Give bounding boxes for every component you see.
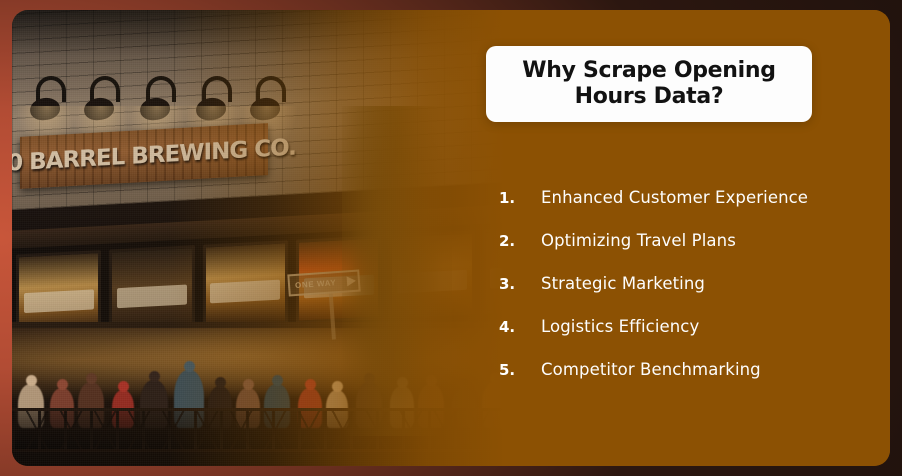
list-item-label: Strategic Marketing	[541, 274, 705, 293]
list-item: 3. Strategic Marketing	[499, 274, 879, 293]
list-item: 5. Competitor Benchmarking	[499, 360, 879, 379]
content-card: 10 BARREL BREWING CO.	[12, 10, 890, 466]
list-item-label: Enhanced Customer Experience	[541, 188, 808, 207]
page-title: Why Scrape OpeningHours Data?	[512, 58, 785, 111]
list-item: 2. Optimizing Travel Plans	[499, 231, 879, 250]
list-item-label: Optimizing Travel Plans	[541, 231, 736, 250]
list-item-number: 2.	[499, 232, 541, 250]
list-item-label: Competitor Benchmarking	[541, 360, 761, 379]
list-item: 1. Enhanced Customer Experience	[499, 188, 879, 207]
title-card: Why Scrape OpeningHours Data?	[486, 46, 812, 122]
list-item-number: 1.	[499, 189, 541, 207]
page-background: 10 BARREL BREWING CO.	[0, 0, 902, 476]
list-item-number: 3.	[499, 275, 541, 293]
list-item-number: 5.	[499, 361, 541, 379]
benefits-list: 1. Enhanced Customer Experience 2. Optim…	[499, 188, 879, 403]
list-item: 4. Logistics Efficiency	[499, 317, 879, 336]
list-item-label: Logistics Efficiency	[541, 317, 699, 336]
list-item-number: 4.	[499, 318, 541, 336]
